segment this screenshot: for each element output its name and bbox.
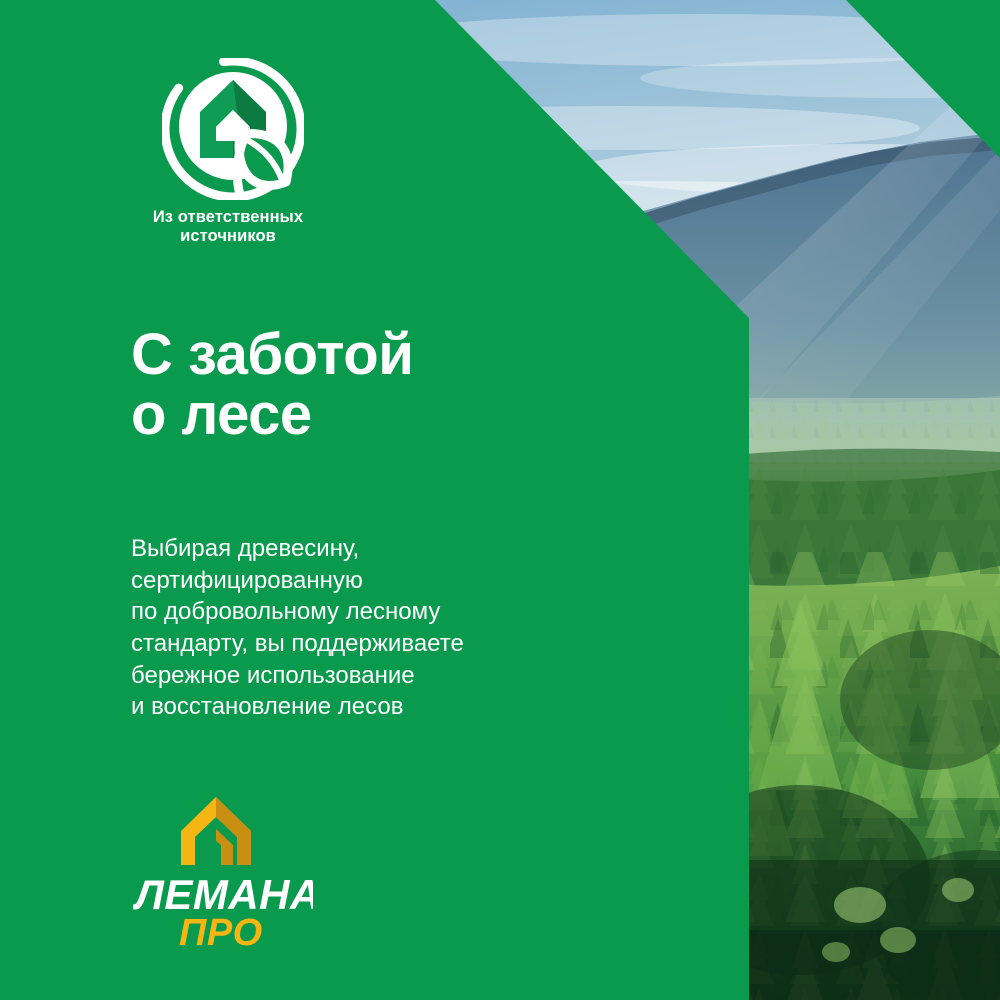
page-title: С заботой о лесе (131, 325, 413, 444)
badge-caption: Из ответственных источников (128, 208, 328, 247)
badge-caption-line1: Из ответственных (153, 208, 303, 226)
brand-name-secondary: ПРО (179, 912, 263, 949)
body-copy: Выбирая древесину, сертифицированную по … (131, 533, 464, 723)
responsible-sources-badge: Из ответственных источников (128, 58, 358, 247)
badge-caption-line2: источников (128, 227, 328, 246)
poster-content: Из ответственных источников С заботой о … (0, 0, 1000, 1000)
responsible-sources-house-leaf-mark (162, 58, 304, 200)
poster-canvas: Из ответственных источников С заботой о … (0, 0, 1000, 1000)
lemana-pro-wordmark: ЛЕМАНА ПРО (133, 869, 313, 949)
brand-name-primary: ЛЕМАНА (133, 871, 313, 918)
lemana-pro-logo: ЛЕМАНА ПРО (133, 795, 323, 949)
lemana-house-icon (177, 795, 255, 867)
